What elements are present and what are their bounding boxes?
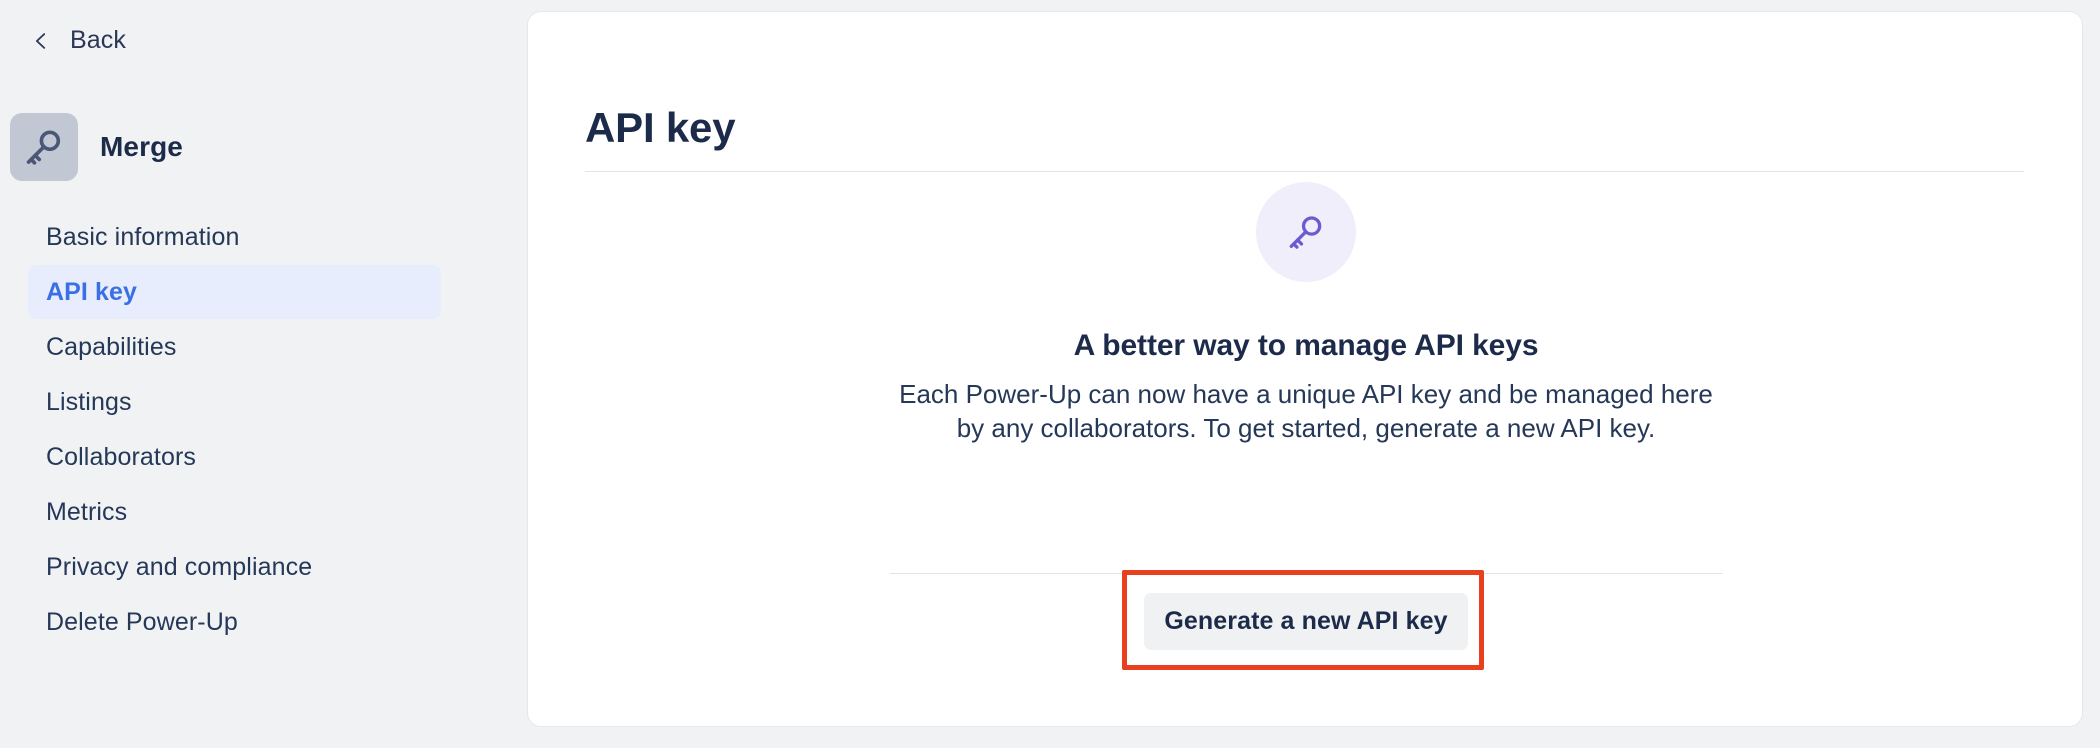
title-divider: [585, 171, 2024, 172]
sidebar-item-label: Collaborators: [46, 443, 196, 472]
sidebar-item-label: Metrics: [46, 498, 127, 527]
chevron-left-icon: [30, 30, 52, 52]
api-key-empty-state: A better way to manage API keys Each Pow…: [528, 182, 2084, 446]
action-divider: [890, 573, 1723, 574]
sidebar-item-label: Privacy and compliance: [46, 553, 312, 582]
sidebar-nav: Basic information API key Capabilities L…: [0, 210, 527, 650]
sidebar-item-label: Capabilities: [46, 333, 176, 362]
sidebar-item-label: API key: [46, 278, 137, 307]
empty-state-body-line-1: Each Power-Up can now have a unique API …: [528, 377, 2084, 411]
back-label: Back: [70, 26, 126, 55]
page-title: API key: [585, 104, 735, 152]
sidebar-item-label: Delete Power-Up: [46, 608, 238, 637]
sidebar-item-capabilities[interactable]: Capabilities: [28, 320, 441, 374]
key-icon: [1256, 182, 1356, 282]
sidebar-item-label: Listings: [46, 388, 132, 417]
key-icon: [10, 113, 78, 181]
empty-state-heading: A better way to manage API keys: [528, 329, 2084, 363]
empty-state-body-line-2: by any collaborators. To get started, ge…: [528, 411, 2084, 445]
brand-name: Merge: [100, 131, 183, 163]
brand-header: Merge: [10, 113, 183, 181]
sidebar-item-listings[interactable]: Listings: [28, 375, 441, 429]
sidebar-item-basic-information[interactable]: Basic information: [28, 210, 441, 264]
sidebar-item-api-key[interactable]: API key: [28, 265, 441, 319]
sidebar-item-privacy-and-compliance[interactable]: Privacy and compliance: [28, 540, 441, 594]
sidebar-item-metrics[interactable]: Metrics: [28, 485, 441, 539]
main-card: API key A better way to manage API keys …: [527, 11, 2083, 727]
sidebar-item-delete-power-up[interactable]: Delete Power-Up: [28, 595, 441, 649]
sidebar-item-collaborators[interactable]: Collaborators: [28, 430, 441, 484]
generate-a-new-api-key-button[interactable]: Generate a new API key: [1144, 593, 1468, 650]
sidebar: Back Merge Basic information API key Cap…: [0, 0, 527, 748]
back-button[interactable]: Back: [24, 22, 132, 59]
empty-state-body: Each Power-Up can now have a unique API …: [528, 377, 2084, 446]
sidebar-item-label: Basic information: [46, 223, 239, 252]
